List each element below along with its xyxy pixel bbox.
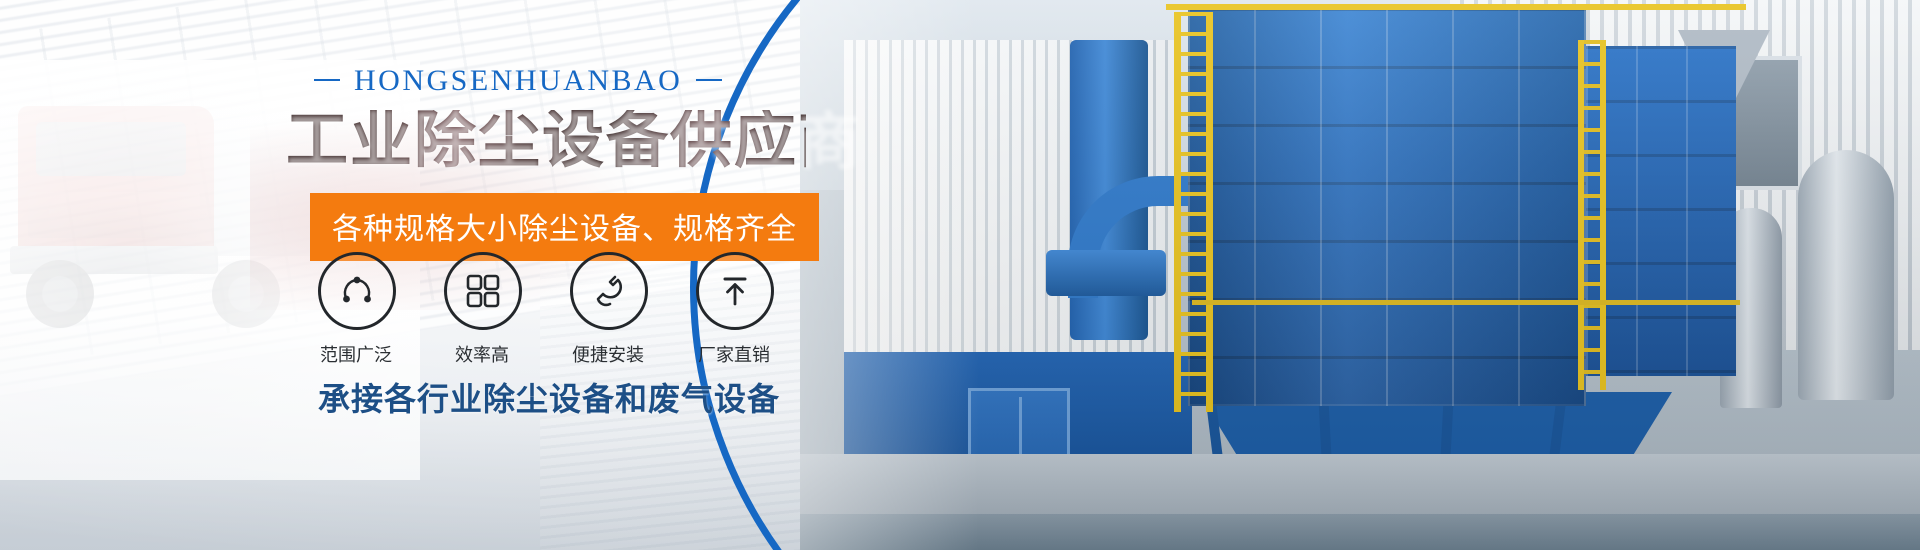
banner-content: HONGSENHUANBAO 工业除尘设备供应商 各种规格大小除尘设备、规格齐全… xyxy=(0,0,820,550)
photo-color-grade xyxy=(800,0,1920,550)
feature-label: 厂家直销 xyxy=(696,341,772,367)
eyebrow-text: HONGSENHUANBAO xyxy=(354,64,682,97)
wrench-icon xyxy=(570,252,648,330)
hero-banner: HONGSENHUANBAO 工业除尘设备供应商 各种规格大小除尘设备、规格齐全… xyxy=(0,0,1920,550)
network-nodes-icon xyxy=(318,252,396,330)
orange-tagline-bar: 各种规格大小除尘设备、规格齐全 xyxy=(310,193,819,261)
brand-eyebrow: HONGSENHUANBAO xyxy=(300,64,720,98)
feature-label: 范围广泛 xyxy=(318,341,394,367)
eyebrow-dash-right xyxy=(696,79,722,81)
feature-label: 效率高 xyxy=(444,341,520,367)
feature-item-efficiency[interactable]: 效率高 xyxy=(444,252,520,367)
dust-collector-plant-photo xyxy=(800,0,1920,550)
feature-label: 便捷安装 xyxy=(570,341,646,367)
up-arrow-icon xyxy=(696,252,774,330)
feature-item-coverage[interactable]: 范围广泛 xyxy=(318,252,394,367)
feature-item-direct-sales[interactable]: 厂家直销 xyxy=(696,252,772,367)
feature-list: 范围广泛 效率高 xyxy=(318,252,772,367)
eyebrow-dash-left xyxy=(314,79,340,81)
feature-item-installation[interactable]: 便捷安装 xyxy=(570,252,646,367)
grid-squares-icon xyxy=(444,252,522,330)
banner-subline: 承接各行业除尘设备和废气设备 xyxy=(318,374,780,420)
banner-headline: 工业除尘设备供应商 xyxy=(286,110,806,172)
